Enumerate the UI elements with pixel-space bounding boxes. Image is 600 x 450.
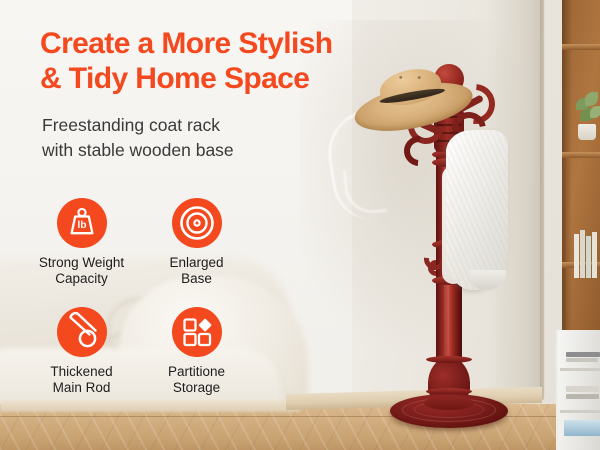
feature-row-1: lb Strong Weight Capacity Enl: [24, 198, 294, 288]
partition-squares-icon: [172, 307, 222, 357]
feature-thickened-main-rod: Thickened Main Rod: [24, 307, 139, 397]
feature-label-line-2: Capacity: [55, 271, 108, 286]
towel-texture: [446, 130, 508, 290]
towel-hem: [470, 270, 506, 290]
thick-rod-icon-glyph: [57, 307, 107, 357]
base-top-face: [424, 396, 474, 410]
feature-partitione-storage: Partitione Storage: [139, 307, 254, 397]
feature-row-2: Thickened Main Rod Partitione Storage: [24, 307, 294, 397]
weight-lb-icon-glyph: lb: [57, 198, 107, 248]
subtitle-line-1: Freestanding coat rack: [42, 115, 220, 135]
feature-label-line-2: Base: [181, 271, 212, 286]
baluster-ring: [426, 356, 472, 363]
headline-line-1: Create a More Stylish: [40, 27, 333, 60]
feature-label: Thickened Main Rod: [24, 364, 139, 397]
feature-strong-weight-capacity: lb Strong Weight Capacity: [24, 198, 139, 288]
feature-label-line-2: Main Rod: [53, 380, 111, 395]
feature-enlarged-base: Enlarged Base: [139, 198, 254, 288]
feature-label: Partitione Storage: [139, 364, 254, 397]
concentric-circles-icon-glyph: [172, 198, 222, 248]
page-title: Create a More Stylish & Tidy Home Space: [40, 26, 420, 96]
feature-grid: lb Strong Weight Capacity Enl: [24, 198, 294, 397]
feature-label-line-1: Thickened: [50, 364, 112, 379]
weight-lb-icon: lb: [57, 198, 107, 248]
feature-label-line-1: Partitione: [168, 364, 225, 379]
product-banner: Create a More Stylish & Tidy Home Space …: [0, 0, 600, 450]
feature-label: Strong Weight Capacity: [24, 255, 139, 288]
subtitle: Freestanding coat rack with stable woode…: [42, 113, 372, 163]
feature-label-line-1: Enlarged: [169, 255, 223, 270]
feature-label-line-2: Storage: [173, 380, 220, 395]
feature-label-line-1: Strong Weight: [39, 255, 124, 270]
concentric-circles-icon: [172, 198, 222, 248]
hanging-towel: [440, 130, 514, 292]
feature-label: Enlarged Base: [139, 255, 254, 288]
partition-squares-icon-glyph: [172, 307, 222, 357]
subtitle-line-2: with stable wooden base: [42, 138, 372, 163]
headline-line-2: & Tidy Home Space: [40, 61, 420, 96]
svg-text:lb: lb: [77, 220, 86, 231]
thick-rod-icon: [57, 307, 107, 357]
